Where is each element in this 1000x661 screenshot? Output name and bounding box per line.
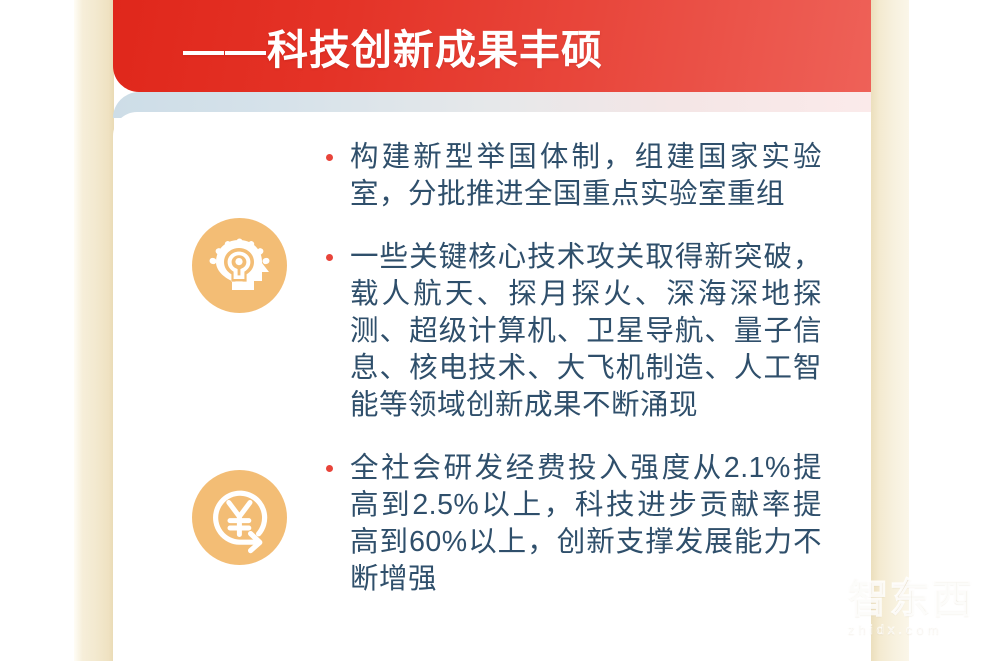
bullet-list: 构建新型举国体制，组建国家实验室，分批推进全国重点实验室重组 一些关键核心技术攻… bbox=[322, 139, 822, 624]
list-item: 一些关键核心技术攻关取得新突破，载人航天、探月探火、深海深地探测、超级计算机、卫… bbox=[322, 239, 822, 424]
yuan-cycle-icon bbox=[192, 470, 287, 565]
bullet-text: 全社会研发经费投入强度从2.1%提高到2.5%以上，科技进步贡献率提高到60%以… bbox=[350, 450, 822, 598]
head-lightbulb-icon bbox=[192, 218, 287, 313]
bullet-text: 一些关键核心技术攻关取得新突破，载人航天、探月探火、深海深地探测、超级计算机、卫… bbox=[350, 239, 822, 424]
bullet-dot-icon bbox=[326, 154, 333, 161]
page-edge-strip-right bbox=[869, 0, 909, 661]
header-banner: ——科技创新成果丰硕 bbox=[113, 0, 871, 92]
infographic-slide: ——科技创新成果丰硕 bbox=[0, 0, 1000, 661]
bullet-dot-icon bbox=[326, 465, 333, 472]
page-title: ——科技创新成果丰硕 bbox=[183, 16, 603, 76]
list-item: 构建新型举国体制，组建国家实验室，分批推进全国重点实验室重组 bbox=[322, 139, 822, 213]
list-item: 全社会研发经费投入强度从2.1%提高到2.5%以上，科技进步贡献率提高到60%以… bbox=[322, 450, 822, 598]
bullet-text: 构建新型举国体制，组建国家实验室，分批推进全国重点实验室重组 bbox=[350, 139, 822, 213]
bullet-dot-icon bbox=[326, 254, 333, 261]
page-edge-strip-left bbox=[74, 0, 114, 661]
